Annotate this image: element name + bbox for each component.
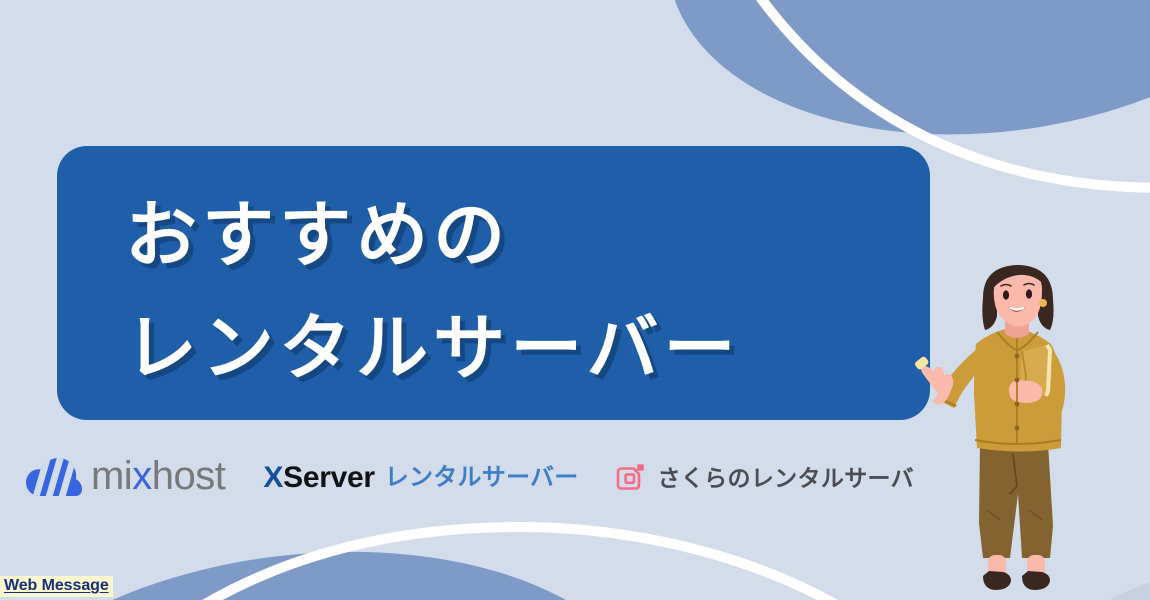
web-message-badge[interactable]: Web Message [0, 576, 113, 597]
mixhost-word-part2: host [152, 454, 226, 498]
character-earring [1039, 299, 1047, 307]
decor-arc-bottom-2 [555, 528, 940, 600]
headline-card: おすすめの レンタルサーバー [57, 146, 930, 420]
mixhost-word-part1: mi [91, 454, 132, 498]
headline-text-block: おすすめの レンタルサーバー [125, 180, 904, 406]
headline-line-1: おすすめの [125, 180, 904, 293]
provider-logo-strip: mixhost XServer レンタルサーバー さくらのレンタルサーバ [0, 450, 940, 506]
decor-arc-bottom [120, 527, 560, 600]
logo-mixhost[interactable]: mixhost [26, 454, 225, 502]
xserver-subtitle: レンタルサーバー [385, 466, 579, 490]
xserver-wordmark: XServer [263, 463, 374, 493]
character-shoe-right [1022, 571, 1050, 590]
sakura-wordmark: さくらのレンタルサーバ [657, 467, 914, 490]
woman-pointing-illustration [905, 258, 1150, 600]
mixhost-cloud-slash-icon [26, 458, 82, 498]
web-message-label[interactable]: Web Message [4, 577, 109, 594]
banner-canvas: おすすめの レンタルサーバー [0, 0, 1150, 600]
headline-line-2: レンタルサーバー [125, 293, 904, 406]
character-eye-left [1003, 290, 1009, 299]
logo-xserver[interactable]: XServer レンタルサーバー [263, 454, 578, 502]
sakura-square-icon [616, 462, 646, 494]
character-eye-right [1026, 289, 1032, 298]
character-pants [979, 443, 1053, 558]
xserver-word-rest: Server [283, 461, 375, 494]
logo-sakura[interactable]: さくらのレンタルサーバ [616, 454, 914, 502]
mixhost-word-x: x [132, 454, 152, 498]
xserver-word-x: X [263, 461, 283, 494]
character-shoe-left [983, 571, 1011, 590]
character-hand-right [1009, 380, 1043, 403]
mixhost-wordmark: mixhost [91, 456, 225, 496]
